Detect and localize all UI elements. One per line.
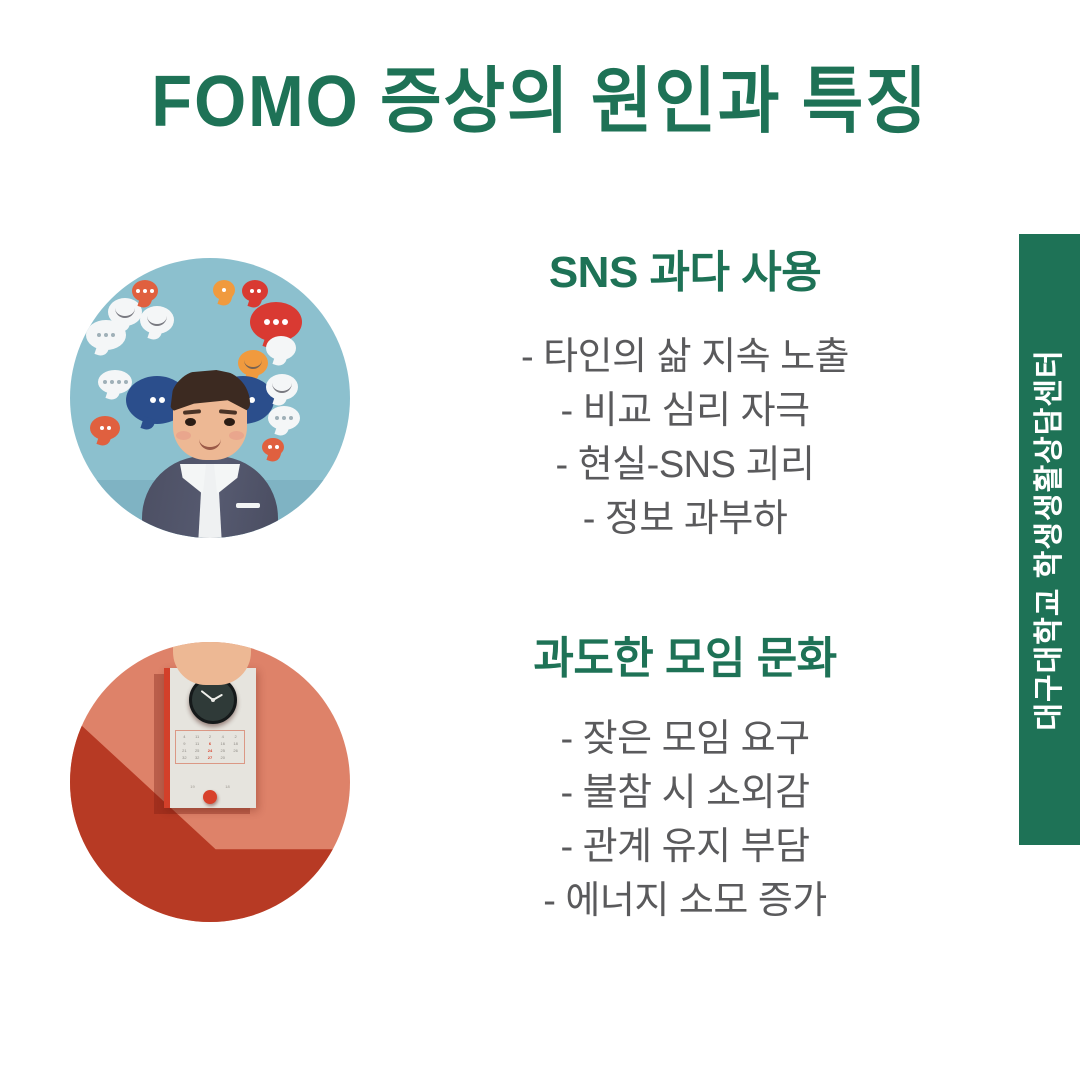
calendar-week-row: 32 32 27 20 [176,754,244,761]
calendar-day: 20 [217,754,228,761]
calendar-day: 32 [179,754,190,761]
list-item: - 현실-SNS 괴리 [420,439,950,493]
speech-bubble-smile-icon [140,306,174,334]
calendar-day: 2 [204,733,215,740]
section-sns-overuse: SNS 과다 사용 - 타인의 삶 지속 노출 - 비교 심리 자극 - 현실-… [0,228,1010,568]
speech-bubble-icon [266,336,296,360]
list-item: - 관계 유지 부담 [420,821,950,875]
person-eye-right [224,418,235,426]
person-eye-left [185,418,196,426]
speech-bubble-smile-icon [266,374,298,400]
man-with-speech-bubbles-illustration [70,258,350,538]
section-1-image-wrap [0,258,420,538]
calendar-spine [164,668,170,808]
organization-name-label: 대구대학교 학생생활상담센터 [1035,349,1065,730]
weekday-label: Fr [236,642,247,685]
person-pocket-square [236,503,260,508]
calendar-week-row: 4 11 2 4 2 [176,733,244,740]
calendar-day: 11 [192,740,203,747]
section-1-bullet-list: - 타인의 삶 지속 노출 - 비교 심리 자극 - 현실-SNS 괴리 - 정… [420,331,950,547]
calendar-weekday-header-row: Mo Tu We Th Fr [173,642,251,685]
calendar-day: 11 [192,733,203,740]
calendar-day: 2 [230,733,241,740]
person-cheek-left [176,431,191,440]
section-2-image-wrap: Mo Tu We Th Fr 4 11 2 4 2 9 [0,642,420,922]
weekday-label: Tu [192,642,203,685]
section-1-heading: SNS 과다 사용 [420,249,950,297]
calendar-day: 25 [192,747,203,754]
speech-bubble-smile-icon [108,298,142,326]
section-excessive-gathering-culture: Mo Tu We Th Fr 4 11 2 4 2 9 [0,612,1010,952]
calendar-day: 4 [179,733,190,740]
calendar-day: 18 [230,740,241,747]
speech-bubble-smile-icon [238,350,268,376]
weekday-label: Th [221,642,232,685]
calendar-day [230,754,241,761]
calendar-day: 16 [217,740,228,747]
organization-sidebar: 대구대학교 학생생활상담센터 [1019,234,1080,845]
list-item: - 불참 시 소외감 [420,767,950,821]
list-item: - 타인의 삶 지속 노출 [420,331,950,385]
calendar-week-row: 21 25 24 25 26 [176,747,244,754]
calendar-week-row: 9 11 6 16 18 [176,740,244,747]
calendar-footer-row: 19 18 [175,784,245,789]
person-cheek-right [229,431,244,440]
speech-bubble-icon [262,438,284,456]
calendar-day: 26 [230,747,241,754]
weekday-label: We [206,642,217,685]
speech-bubble-icon [98,370,132,394]
calendar-footer-value: 19 [187,784,198,789]
list-item: - 잦은 모임 요구 [420,713,950,767]
calendar-day-highlighted: 6 [204,740,215,747]
speech-bubble-icon [242,280,268,302]
speech-bubble-icon [268,406,300,430]
section-2-text: 과도한 모임 문화 - 잦은 모임 요구 - 불참 시 소외감 - 관계 유지 … [420,635,1010,929]
speech-bubble-icon [213,280,235,300]
speech-bubble-icon [90,416,120,440]
calendar-day-highlighted: 24 [204,747,215,754]
calendar-card: Mo Tu We Th Fr 4 11 2 4 2 9 [164,668,256,808]
calendar-day-highlighted: 27 [204,754,215,761]
clock-center-pin [211,698,215,702]
section-2-heading: 과도한 모임 문화 [420,635,950,683]
list-item: - 비교 심리 자극 [420,385,950,439]
section-2-bullet-list: - 잦은 모임 요구 - 불참 시 소외감 - 관계 유지 부담 - 에너지 소… [420,713,950,929]
calendar-day: 9 [179,740,190,747]
calendar-date-grid: Mo Tu We Th Fr 4 11 2 4 2 9 [175,730,245,764]
calendar-red-marker-dot [203,790,217,804]
list-item: - 정보 과부하 [420,493,950,547]
speech-bubble-icon [132,280,158,302]
page-title: FOMO 증상의 원인과 특징 [38,62,1042,143]
calendar-with-clock-illustration: Mo Tu We Th Fr 4 11 2 4 2 9 [70,642,350,922]
calendar-day: 21 [179,747,190,754]
calendar-footer-value: 18 [222,784,233,789]
weekday-label: Mo [177,642,188,685]
calendar-day: 4 [217,733,228,740]
section-1-text: SNS 과다 사용 - 타인의 삶 지속 노출 - 비교 심리 자극 - 현실-… [420,249,1010,547]
calendar-day: 32 [192,754,203,761]
calendar-day: 25 [217,747,228,754]
list-item: - 에너지 소모 증가 [420,875,950,929]
